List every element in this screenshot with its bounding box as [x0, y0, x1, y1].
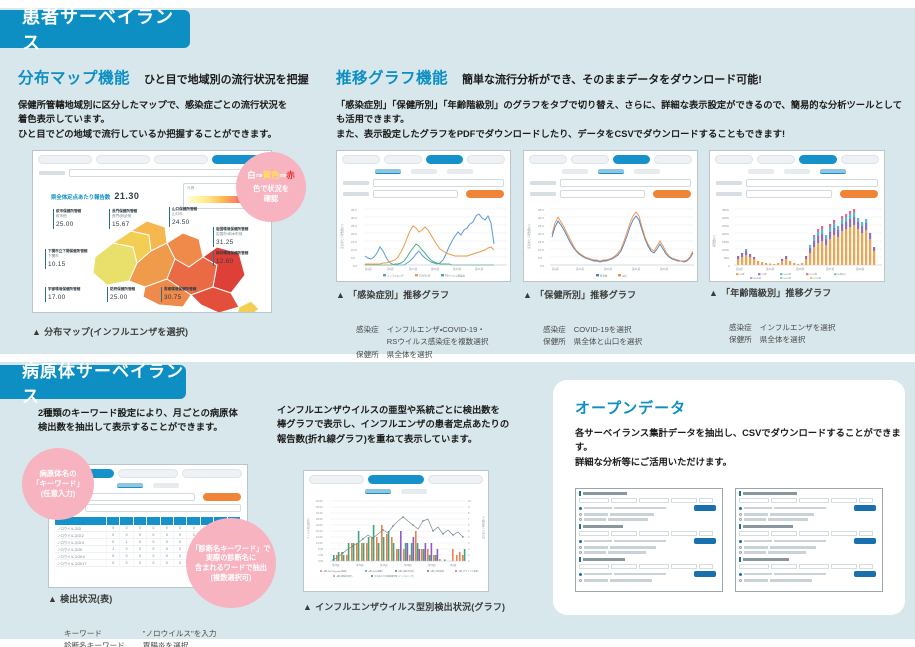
- feature-body-trend-graph: 「感染症別」「保健所別」「年齢階級別」のグラフをタブで切り替え、さらに、詳細な表…: [336, 98, 906, 141]
- od-r-check-0[interactable]: [736, 504, 882, 512]
- g3-subtab-disease[interactable]: [748, 169, 774, 174]
- svg-text:5-9歳: 5-9歳: [761, 272, 766, 276]
- svg-text:20.0: 20.0: [351, 232, 357, 236]
- svg-text:50-59歳: 50-59歳: [783, 276, 790, 280]
- map-stat-value: 21.30: [114, 191, 139, 201]
- g3-input-1[interactable]: [746, 179, 878, 187]
- svg-text:定点あたり報告数(人): 定点あたり報告数(人): [527, 224, 531, 249]
- svg-text:第48週: 第48週: [404, 563, 412, 567]
- map-label-region-5: 下関市立下関保健所管轄 下関市 10.15: [45, 249, 88, 269]
- svg-text:8: 8: [468, 511, 470, 515]
- svg-text:第41週: 第41週: [660, 267, 668, 271]
- svg-text:1000: 1000: [722, 248, 729, 252]
- open-data-title: オープンデータ: [575, 397, 686, 418]
- map-region-7-name: 防府保健所管轄: [110, 287, 135, 292]
- svg-text:第25週: 第25週: [431, 267, 439, 271]
- ga-key-1: 保健所: [729, 334, 760, 346]
- section-title-patient-surveillance: 患者サーベイランス: [0, 10, 190, 48]
- map-stat: 県全体定点あたり報告数21.30: [51, 191, 139, 201]
- svg-text:30.0: 30.0: [351, 216, 357, 220]
- svg-text:0.00: 0.00: [318, 559, 324, 563]
- gd-val-2: 県全体を選択: [387, 349, 489, 361]
- svg-text:12.00: 12.00: [316, 541, 323, 545]
- svg-text:35.0: 35.0: [538, 208, 544, 212]
- svg-text:A型 (A/H3亜型): A型 (A/H3亜型): [369, 569, 384, 573]
- map-label-region-6: 宇部環境保健所管轄 17.00: [45, 287, 80, 302]
- g3-label-2: [716, 192, 742, 196]
- svg-text:5: 5: [468, 529, 470, 533]
- svg-text:第36週: 第36週: [332, 563, 340, 567]
- od-r-row-2[interactable]: [736, 563, 882, 570]
- map-label-region-7: 防府保健所管轄 25.00: [107, 287, 135, 302]
- gc-key-1: 保健所: [543, 336, 574, 348]
- pathogen-body-middle: インフルエンザウイルスの亜型や系統ごとに検出数を 棒グラフで表示し、インフルエン…: [277, 403, 547, 446]
- map-region-3-sub: 岩国市・和木町他: [216, 232, 248, 237]
- dtc-val-1: 胃腸炎を選択: [143, 640, 217, 647]
- g1-subtab-health-center[interactable]: [411, 169, 437, 174]
- feature-subtitle-trend-graph: 簡単な流行分析ができ、そのままデータをダウンロード可能!: [462, 71, 762, 87]
- svg-text:インフルエンザ: インフルエンザ: [387, 273, 404, 277]
- caption-detail-detection-table: キーワード "ノロウイルス"を入力 診断名キーワード 胃腸炎を選択: [64, 605, 216, 647]
- dt-search-button[interactable]: [203, 493, 241, 501]
- g2-field-row-1[interactable]: [524, 177, 697, 188]
- svg-text:定点あたり報告数(人): 定点あたり報告数(人): [340, 224, 344, 249]
- g1-tab-2-active[interactable]: [426, 155, 464, 164]
- map-disease-field-row[interactable]: [33, 167, 271, 178]
- g3-tab-0[interactable]: [715, 155, 753, 164]
- svg-text:1: 1: [468, 553, 470, 557]
- caption-marker-graph-center: ▲: [523, 290, 532, 300]
- map-tab-2[interactable]: [154, 155, 208, 164]
- map-region-2-value: 24.50: [172, 219, 197, 228]
- svg-text:第9週: 第9週: [387, 267, 394, 271]
- map-region-0-sub: 萩市他: [56, 214, 81, 219]
- svg-text:5.0: 5.0: [538, 256, 543, 260]
- bubble-kw-line3: (任意入力): [41, 489, 76, 499]
- dt-row-2-name: ノロウイルスGI.3: [55, 539, 107, 545]
- svg-text:第52週: 第52週: [428, 563, 436, 567]
- bubble-diag-line4: (複数選択可): [211, 573, 252, 583]
- dt-keyword-input[interactable]: [85, 493, 195, 501]
- svg-text:第37週: 第37週: [826, 267, 834, 271]
- gd-key-1: [356, 336, 387, 348]
- fl-tab-2[interactable]: [428, 475, 483, 484]
- g1-label-2: [343, 192, 369, 196]
- svg-text:30-39歳: 30-39歳: [753, 276, 760, 280]
- svg-text:36.00: 36.00: [316, 505, 323, 509]
- od-l-check-0[interactable]: [576, 504, 722, 512]
- dt-tab-flu-type[interactable]: [118, 469, 178, 478]
- od-r-check-3[interactable]: [736, 537, 882, 545]
- ga-val-0: インフルエンザを選択: [760, 322, 836, 334]
- dtc-key-0: キーワード: [64, 628, 143, 640]
- map-region-0-value: 25.00: [56, 221, 81, 230]
- g1-field-row-1[interactable]: [337, 177, 510, 188]
- caption-detection-table: ▲検出状況(表): [48, 592, 113, 605]
- map-region-1-value: 15.67: [112, 221, 137, 230]
- g2-input-2[interactable]: [560, 190, 645, 198]
- dt-row-0-name: ノロウイルスGI: [55, 525, 107, 531]
- svg-text:第1週: 第1週: [552, 267, 559, 271]
- g3-tab-2-active[interactable]: [799, 155, 837, 164]
- svg-text:第1週: 第1週: [365, 267, 372, 271]
- svg-text:20.00: 20.00: [316, 529, 323, 533]
- od-l-section-1: [576, 522, 722, 530]
- dtc-val-0: "ノロウイルス"を入力: [143, 628, 217, 640]
- g2-subtab-health-center[interactable]: [598, 169, 624, 174]
- caption-graph-disease: ▲「感染症別」推移グラフ: [336, 288, 449, 301]
- g3-subtab-health-center[interactable]: [784, 169, 810, 174]
- gc-val-0: COVID-19を選択: [574, 324, 642, 336]
- g1-chart-canvas: 35.030.0 25.020.0 15.010.0 5.00.0 定点あたり報…: [337, 203, 511, 281]
- caption-flu-graph: ▲インフルエンザウイルス型別検出状況(グラフ): [303, 600, 505, 613]
- callout-bubble-keyword: 病原体名の 「キーワード」 (任意入力): [22, 448, 94, 520]
- svg-text:0: 0: [728, 264, 730, 268]
- od-r-check-6[interactable]: [736, 570, 882, 578]
- svg-text:B型 (山形系統): B型 (山形系統): [431, 569, 445, 573]
- g2-tab-0[interactable]: [529, 155, 567, 164]
- g2-subtab-bar[interactable]: [524, 167, 697, 177]
- svg-text:24.00: 24.00: [316, 523, 323, 527]
- od-l-check-7[interactable]: [576, 578, 722, 583]
- g2-tab-2-active[interactable]: [613, 155, 651, 164]
- map-region-6-name: 宇部環境保健所管轄: [48, 287, 80, 292]
- svg-text:16.00: 16.00: [316, 535, 323, 539]
- screenshot-trend-graph-health-center[interactable]: 35.030.0 25.020.0 15.010.0 5.00.0 定点あたり報…: [523, 150, 698, 282]
- map-tab-0[interactable]: [38, 155, 92, 164]
- svg-text:第21週: 第21週: [604, 267, 612, 271]
- caption-text-graph-disease: 「感染症別」推移グラフ: [348, 290, 449, 300]
- svg-text:3000: 3000: [722, 216, 729, 220]
- od-r-row-0[interactable]: [736, 497, 882, 504]
- svg-text:定点あたりの患者報告数 (インフルエンザ): 定点あたりの患者報告数 (インフルエンザ): [375, 574, 415, 578]
- callout-bubble-diagnosis-keyword: 「診断名キーワード」で 実際の診断名に 含まれるワードで抽出 (複数選択可): [186, 518, 276, 608]
- g2-subtab-disease[interactable]: [562, 169, 588, 174]
- svg-text:第11週: 第11週: [576, 267, 584, 271]
- od-l-check-6[interactable]: [576, 570, 722, 578]
- svg-text:20歳以上: 20歳以上: [837, 272, 846, 276]
- g2-input-1[interactable]: [560, 179, 691, 187]
- g1-label-1: [343, 181, 369, 185]
- svg-text:定点あたり報告数(人): 定点あたり報告数(人): [481, 516, 485, 539]
- svg-text:B型 (系統未同定): B型 (系統未同定): [399, 569, 415, 573]
- bubble-diag-line2: 実際の診断名に: [206, 553, 256, 563]
- g3-tab-bar[interactable]: [710, 151, 884, 167]
- g2-tab-bar[interactable]: [524, 151, 697, 167]
- g3-tab-1[interactable]: [757, 155, 795, 164]
- svg-text:10.0: 10.0: [538, 248, 544, 252]
- feature-title-trend-graph: 推移グラフ機能: [336, 66, 448, 88]
- svg-text:15-19歳: 15-19歳: [809, 272, 816, 276]
- od-r-section-0: [736, 489, 882, 497]
- g1-field-row-2[interactable]: [337, 188, 510, 199]
- g2-tab-1[interactable]: [571, 155, 609, 164]
- svg-text:25.0: 25.0: [538, 224, 544, 228]
- svg-text:8.00: 8.00: [318, 547, 324, 551]
- caption-text-flu: インフルエンザウイルス型別検出状況(グラフ): [315, 602, 505, 612]
- g1-input-2[interactable]: [373, 190, 458, 198]
- map-region-5-sub: 下関市: [48, 254, 88, 259]
- g2-display-settings-button[interactable]: [653, 190, 691, 198]
- od-l-section-2: [576, 555, 722, 563]
- map-label-region-3: 岩国環境保健所管轄 岩国市・和木町他 31.25: [213, 227, 248, 247]
- svg-text:COVID-19: COVID-19: [419, 274, 431, 277]
- svg-text:0: 0: [468, 559, 470, 563]
- g2-subtab-age[interactable]: [634, 169, 660, 174]
- map-region-8-value: 30.75: [164, 294, 196, 303]
- g1-subtab-disease[interactable]: [375, 169, 401, 174]
- gd-val-1: RSウイルス感染症を複数選択: [387, 336, 489, 348]
- caption-text-map: 分布マップ(インフルエンザを選択): [44, 327, 188, 337]
- g1-tab-bar[interactable]: [337, 151, 510, 167]
- fl-tab-0[interactable]: [309, 475, 364, 484]
- g3-field-row-1[interactable]: [710, 177, 884, 188]
- svg-text:A型 (亜型未同定): A型 (亜型未同定): [337, 574, 353, 578]
- bubble-diag-line1: 「診断名キーワード」で: [191, 544, 270, 554]
- g3-tab-3[interactable]: [841, 155, 879, 164]
- svg-text:4: 4: [468, 535, 470, 539]
- svg-text:7: 7: [468, 517, 470, 521]
- map-region-5-value: 10.15: [48, 261, 88, 270]
- map-label-region-8: 周南環境保健所管轄 30.75: [161, 287, 196, 302]
- svg-text:県全体: 県全体: [600, 273, 608, 277]
- svg-text:40.00: 40.00: [316, 499, 323, 503]
- screenshot-open-data-right[interactable]: [735, 488, 883, 592]
- svg-text:10.0: 10.0: [351, 248, 357, 252]
- svg-text:25.0: 25.0: [351, 224, 357, 228]
- dt-tab-isolation[interactable]: [182, 469, 242, 478]
- map-disease-label: [39, 171, 65, 175]
- svg-text:500: 500: [724, 256, 729, 260]
- feature-title-distribution-map: 分布マップ機能: [18, 66, 130, 88]
- od-r-section-1: [736, 522, 882, 530]
- screenshot-trend-graph-age[interactable]: 35003000 25002000 15001000 5000 報告数(人): [709, 150, 885, 282]
- svg-text:1500: 1500: [722, 240, 729, 244]
- od-r-check-7[interactable]: [736, 578, 882, 583]
- ga-key-0: 感染症: [729, 322, 760, 334]
- svg-text:第17週: 第17週: [409, 267, 417, 271]
- map-region-4-name: 柳井環境保健所管轄: [216, 251, 248, 256]
- g1-tab-3[interactable]: [467, 155, 505, 164]
- gd-key-0: 感染症: [356, 324, 387, 336]
- g2-field-row-2[interactable]: [524, 188, 697, 199]
- screenshot-open-data-left[interactable]: [575, 488, 723, 592]
- map-label-region-1: 長門保健所管轄 長門・阿武他 15.67: [109, 209, 137, 229]
- svg-text:3: 3: [468, 541, 470, 545]
- pathogen-body-left: 2種類のキーワード設定により、月ごとの病原体 検出数を抽出して表示することができ…: [38, 406, 288, 435]
- gc-key-0: 感染症: [543, 324, 574, 336]
- bubble-diag-line3: 含まれるワードで抽出: [195, 563, 267, 573]
- svg-text:10: 10: [468, 499, 471, 503]
- screenshot-flu-type-detection-graph[interactable]: 40.0036.0032.00 28.0024.0020.00 16.0012.…: [303, 470, 489, 592]
- map-label-region-2: 山口保健所管轄 山口市 24.50: [169, 207, 197, 227]
- g2-chart-canvas: 35.030.0 25.020.0 15.010.0 5.00.0 定点あたり報…: [524, 203, 698, 281]
- od-r-section-2: [736, 555, 882, 563]
- svg-text:ウイルス検出数(件): ウイルス検出数(件): [306, 518, 310, 539]
- caption-marker-graph-age: ▲: [709, 288, 718, 298]
- od-l-row-0[interactable]: [576, 497, 722, 504]
- od-r-row-1[interactable]: [736, 530, 882, 537]
- screenshot-trend-graph-disease[interactable]: 35.030.0 25.020.0 15.010.0 5.00.0 定点あたり報…: [336, 150, 511, 282]
- svg-text:3500: 3500: [722, 208, 729, 212]
- g1-input-1[interactable]: [373, 179, 504, 187]
- map-tab-bar[interactable]: [33, 151, 271, 167]
- screenshot-distribution-map[interactable]: 県全体定点あたり報告数21.30 凡例: [32, 150, 272, 313]
- g2-label-2: [530, 192, 556, 196]
- svg-text:15.0: 15.0: [538, 240, 544, 244]
- g3-input-2[interactable]: [746, 190, 832, 198]
- g3-field-row-2[interactable]: [710, 188, 884, 199]
- gd-val-0: インフルエンザ・COVID-19・: [387, 324, 489, 336]
- caption-text-detection: 検出状況(表): [60, 594, 112, 604]
- svg-text:15.0: 15.0: [351, 240, 357, 244]
- svg-text:第49週: 第49週: [856, 267, 864, 271]
- caption-text-graph-center: 「保健所別」推移グラフ: [535, 290, 636, 300]
- caption-marker-detection: ▲: [48, 594, 57, 604]
- svg-text:RSウイルス感染症: RSウイルス感染症: [445, 273, 466, 277]
- svg-text:2: 2: [468, 547, 470, 551]
- svg-text:2000: 2000: [722, 232, 729, 236]
- map-legend-title: 凡例: [187, 186, 194, 191]
- bubble-kw-line1: 病原体名の: [40, 469, 77, 479]
- ga-val-1: 県全体を選択: [760, 334, 836, 346]
- g1-tab-1[interactable]: [384, 155, 422, 164]
- caption-distribution-map: ▲分布マップ(インフルエンザを選択): [32, 325, 188, 338]
- svg-text:報告数(人): 報告数(人): [712, 235, 716, 247]
- feature-heading-distribution-map: 分布マップ機能 ひと目で地域別の流行状況を把握: [18, 66, 309, 88]
- svg-text:第41週: 第41週: [475, 267, 483, 271]
- caption-detail-graph-age: 感染症 インフルエンザを選択 保健所 県全体を選択: [729, 299, 836, 369]
- g3-display-settings-button[interactable]: [840, 190, 878, 198]
- g1-display-settings-button[interactable]: [466, 190, 504, 198]
- map-label-region-0: 萩市保健所管轄 萩市他 25.00: [53, 209, 81, 229]
- dt-subtab-detection[interactable]: [117, 483, 143, 488]
- g2-label-1: [530, 181, 556, 185]
- dt-subtab-trend[interactable]: [153, 483, 179, 488]
- svg-text:0.0: 0.0: [540, 264, 545, 268]
- dt-row-3-name: ノロウイルスGII: [55, 546, 107, 552]
- gc-val-1: 県全体と山口を選択: [574, 336, 642, 348]
- feature-body-distribution-map: 保健所管轄地域別に区分したマップで、感染症ごとの流行状況を 着色表示しています。…: [18, 98, 318, 141]
- od-l-check-3[interactable]: [576, 537, 722, 545]
- fl-tab-bar[interactable]: [304, 471, 488, 487]
- svg-text:9: 9: [468, 505, 470, 509]
- g1-subtab-age[interactable]: [447, 169, 473, 174]
- svg-text:第13週: 第13週: [766, 267, 774, 271]
- svg-text:0-4歳: 0-4歳: [739, 272, 744, 276]
- od-l-row-2[interactable]: [576, 563, 722, 570]
- svg-text:2500: 2500: [722, 224, 729, 228]
- map-label-region-4: 柳井環境保健所管轄 12.60: [213, 251, 248, 266]
- g3-subtab-age[interactable]: [820, 169, 846, 174]
- map-region-4-value: 12.60: [216, 258, 248, 267]
- feature-heading-trend-graph: 推移グラフ機能 簡単な流行分析ができ、そのままデータをダウンロード可能!: [336, 66, 762, 88]
- svg-text:5.0: 5.0: [351, 256, 356, 260]
- svg-text:第1週: 第1週: [736, 267, 743, 271]
- svg-text:32.00: 32.00: [316, 511, 323, 515]
- bubble-kw-line2: 「キーワード」: [32, 479, 84, 489]
- svg-text:山口: 山口: [622, 273, 627, 277]
- svg-text:6: 6: [468, 523, 470, 527]
- feature-subtitle-distribution-map: ひと目で地域別の流行状況を把握: [144, 71, 309, 87]
- dt-row-1-name: ノロウイルスGI.2: [55, 532, 107, 538]
- bubble-map-line1: 白⇒黄色⇒赤: [247, 170, 295, 181]
- map-region-1-sub: 長門・阿武他: [112, 214, 137, 219]
- dtc-key-1: 診断名キーワード: [64, 640, 143, 647]
- map-region-8-name: 周南環境保健所管轄: [164, 287, 196, 292]
- map-stat-label: 県全体定点あたり報告数: [51, 195, 110, 201]
- svg-text:0.0: 0.0: [353, 264, 358, 268]
- svg-text:28.00: 28.00: [316, 517, 323, 521]
- caption-marker-map: ▲: [32, 327, 41, 337]
- section-title-pathogen-surveillance: 病原体サーベイランス: [0, 365, 186, 399]
- svg-text:第25週: 第25週: [796, 267, 804, 271]
- dt-diagnosis-select[interactable]: [85, 504, 241, 512]
- g3-subtab-bar[interactable]: [710, 167, 884, 177]
- open-data-card: オープンデータ 各サーベイランス集計データを抽出し、CSVでダウンロードすること…: [553, 380, 905, 615]
- fl-tab-1-active[interactable]: [368, 475, 423, 484]
- bubble-map-line2: 色で状況を: [253, 184, 289, 194]
- od-l-row-1[interactable]: [576, 530, 722, 537]
- g3-chart-canvas: 35003000 25002000 15001000 5000 報告数(人): [710, 203, 885, 281]
- svg-text:第4週: 第4週: [450, 563, 457, 567]
- svg-text:10-14歳: 10-14歳: [783, 272, 790, 276]
- svg-text:B型 (ビクトリア系統): B型 (ビクトリア系統): [459, 569, 479, 573]
- map-tab-1[interactable]: [96, 155, 150, 164]
- callout-bubble-map-colors: 白⇒黄色⇒赤 色で状況を 確認: [236, 152, 306, 222]
- g3-label-1: [716, 181, 742, 185]
- brochure-page: 患者サーベイランス 分布マップ機能 ひと目で地域別の流行状況を把握 保健所管轄地…: [0, 0, 915, 647]
- svg-text:第33週: 第33週: [453, 267, 461, 271]
- map-region-6-value: 17.00: [48, 294, 80, 303]
- g1-tab-0[interactable]: [342, 155, 380, 164]
- caption-text-graph-age: 「年齢階級別」推移グラフ: [721, 288, 831, 298]
- svg-text:4.00: 4.00: [318, 553, 324, 557]
- map-disease-input[interactable]: [69, 169, 265, 177]
- svg-text:30.0: 30.0: [538, 216, 544, 220]
- open-data-body: 各サーベイランス集計データを抽出し、CSVでダウンロードすることができます。 詳…: [575, 426, 905, 469]
- svg-text:20.0: 20.0: [538, 232, 544, 236]
- g2-tab-3[interactable]: [654, 155, 692, 164]
- g1-subtab-bar[interactable]: [337, 167, 510, 177]
- svg-text:第40週: 第40週: [356, 563, 364, 567]
- caption-graph-age: ▲「年齢階級別」推移グラフ: [709, 286, 832, 299]
- caption-marker-flu: ▲: [303, 602, 312, 612]
- svg-text:35.0: 35.0: [351, 208, 357, 212]
- caption-marker-graph-disease: ▲: [336, 290, 345, 300]
- caption-graph-center: ▲「保健所別」推移グラフ: [523, 288, 636, 301]
- svg-text:70-79歳: 70-79歳: [813, 276, 820, 280]
- od-l-section-0: [576, 489, 722, 497]
- map-region-7-value: 25.00: [110, 294, 135, 303]
- svg-text:第44週: 第44週: [380, 563, 388, 567]
- dt-row-5-name: ノロウイルスGII.17: [55, 560, 107, 566]
- svg-text:第31週: 第31週: [632, 267, 640, 271]
- caption-detail-graph-center: 感染症 COVID-19を選択 保健所 県全体と山口を選択: [543, 301, 642, 371]
- fl-chart-canvas: 40.0036.0032.00 28.0024.0020.00 16.0012.…: [304, 493, 489, 592]
- map-region-2-sub: 山口市: [172, 212, 197, 217]
- dt-row-4-name: ノロウイルスGII.4: [55, 553, 107, 559]
- gd-key-2: 保健所: [356, 349, 387, 361]
- map-region-3-value: 31.25: [216, 239, 248, 248]
- bubble-map-line3: 確認: [264, 194, 278, 204]
- svg-text:A型 (A/H1N1pdm09亜型): A型 (A/H1N1pdm09亜型): [324, 569, 348, 573]
